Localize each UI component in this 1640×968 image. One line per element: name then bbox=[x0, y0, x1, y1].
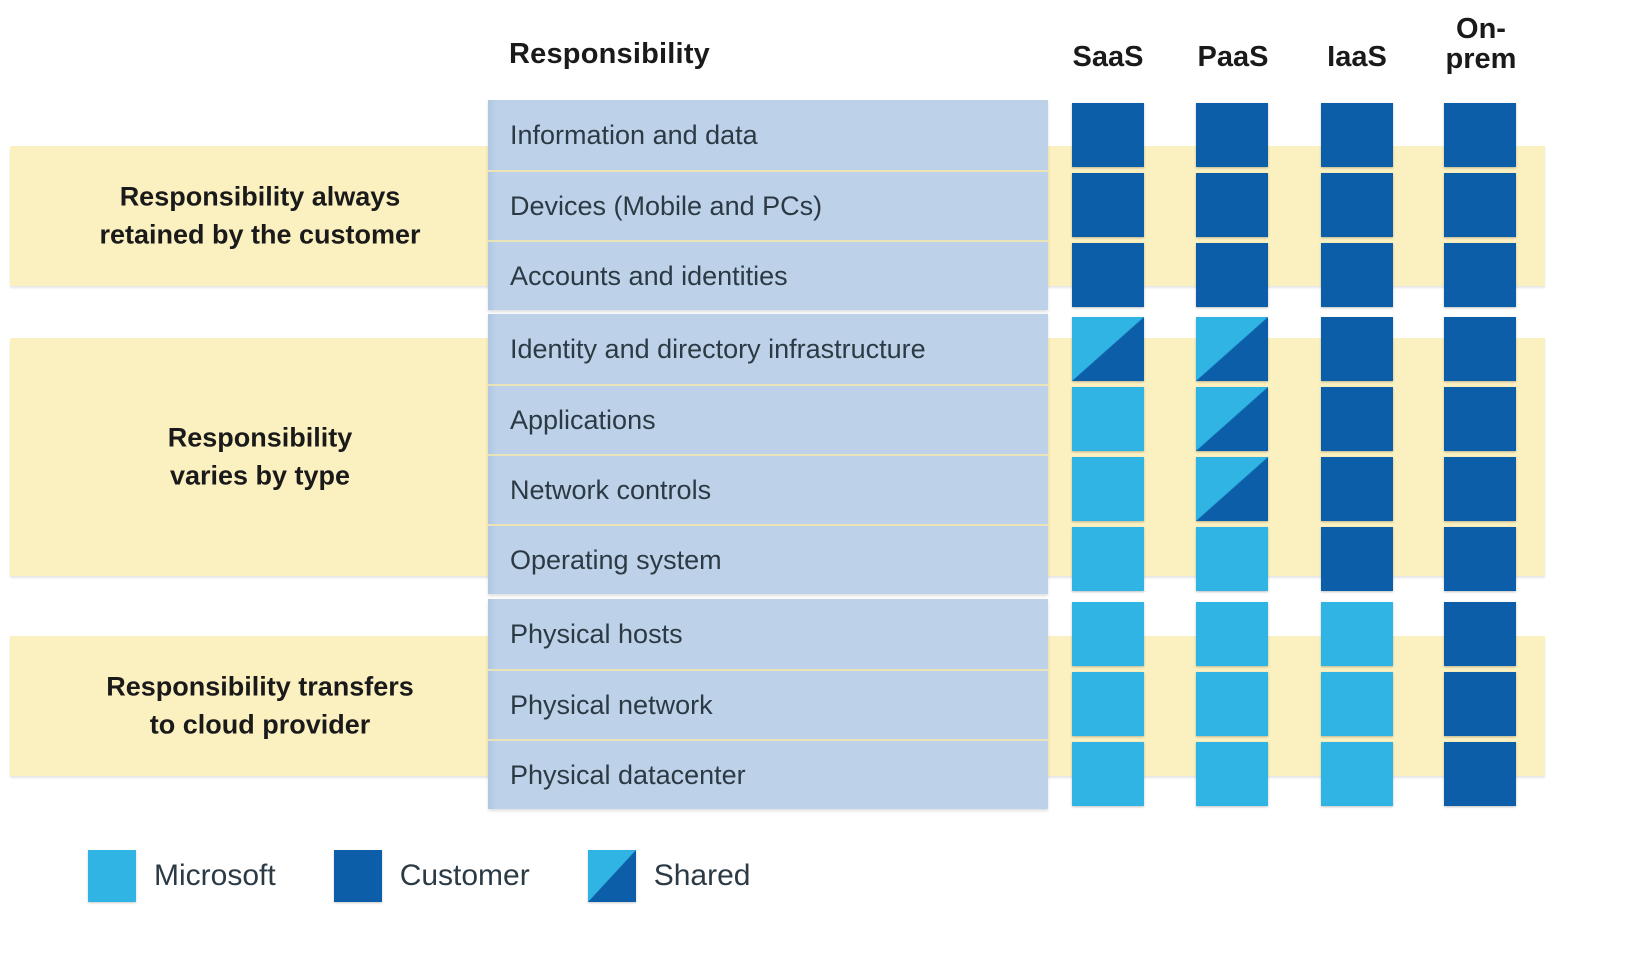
matrix-cell-iaas-customer bbox=[1321, 317, 1393, 381]
matrix-cell-saas-customer bbox=[1072, 243, 1144, 307]
responsibility-row: Physical hosts bbox=[488, 599, 1048, 669]
responsibility-row-label: Operating system bbox=[510, 545, 722, 576]
matrix-cell-onprem-customer bbox=[1444, 317, 1516, 381]
responsibility-row: Accounts and identities bbox=[488, 240, 1048, 310]
shared-responsibility-diagram: Responsibility always retained by the cu… bbox=[0, 0, 1640, 968]
responsibility-row-label: Physical network bbox=[510, 690, 713, 721]
responsibility-group-2: Physical hostsPhysical networkPhysical d… bbox=[488, 599, 1048, 809]
matrix-cell-onprem-customer bbox=[1444, 742, 1516, 806]
matrix-cell-onprem-customer bbox=[1444, 527, 1516, 591]
matrix-cell-onprem-customer bbox=[1444, 387, 1516, 451]
matrix-cell-onprem-customer bbox=[1444, 602, 1516, 666]
matrix-cell-paas-microsoft bbox=[1196, 672, 1268, 736]
matrix-cell-saas-microsoft bbox=[1072, 527, 1144, 591]
responsibility-group-1: Identity and directory infrastructureApp… bbox=[488, 314, 1048, 594]
responsibility-row: Operating system bbox=[488, 524, 1048, 594]
category-label-transfers: Responsibility transfers to cloud provid… bbox=[40, 668, 480, 745]
matrix-cell-iaas-microsoft bbox=[1321, 742, 1393, 806]
matrix-cell-saas-microsoft bbox=[1072, 602, 1144, 666]
legend-swatch-shared-icon bbox=[588, 850, 636, 902]
matrix-cell-onprem-customer bbox=[1444, 457, 1516, 521]
matrix-cell-saas-customer bbox=[1072, 103, 1144, 167]
matrix-cell-onprem-customer bbox=[1444, 243, 1516, 307]
responsibility-group-0: Information and dataDevices (Mobile and … bbox=[488, 100, 1048, 310]
matrix-cell-paas-customer bbox=[1196, 243, 1268, 307]
column-header-saas: SaaS bbox=[1043, 42, 1173, 72]
responsibility-row-label: Devices (Mobile and PCs) bbox=[510, 191, 822, 222]
matrix-cell-paas-microsoft bbox=[1196, 742, 1268, 806]
matrix-cell-saas-microsoft bbox=[1072, 457, 1144, 521]
matrix-cell-paas-microsoft bbox=[1196, 602, 1268, 666]
responsibility-row: Applications bbox=[488, 384, 1048, 454]
responsibility-row-label: Physical datacenter bbox=[510, 760, 746, 791]
category-label-retained: Responsibility always retained by the cu… bbox=[40, 178, 480, 255]
responsibility-row-label: Physical hosts bbox=[510, 619, 683, 650]
matrix-cell-iaas-customer bbox=[1321, 457, 1393, 521]
legend-item-microsoft: Microsoft bbox=[88, 850, 276, 902]
legend-item-shared: Shared bbox=[588, 850, 751, 902]
matrix-cell-onprem-customer bbox=[1444, 173, 1516, 237]
legend-label-customer: Customer bbox=[400, 859, 530, 893]
matrix-cell-saas-shared bbox=[1072, 317, 1144, 381]
responsibility-row-label: Accounts and identities bbox=[510, 261, 788, 292]
legend-label-shared: Shared bbox=[654, 859, 751, 893]
legend-swatch-microsoft-icon bbox=[88, 850, 136, 902]
responsibility-row: Information and data bbox=[488, 100, 1048, 170]
matrix-cell-paas-microsoft bbox=[1196, 527, 1268, 591]
column-header-onprem: On- prem bbox=[1416, 14, 1546, 75]
matrix-cell-saas-microsoft bbox=[1072, 742, 1144, 806]
column-header-paas: PaaS bbox=[1168, 42, 1298, 72]
matrix-cell-paas-shared bbox=[1196, 387, 1268, 451]
matrix-cell-saas-customer bbox=[1072, 173, 1144, 237]
matrix-cell-iaas-customer bbox=[1321, 387, 1393, 451]
category-label-varies: Responsibility varies by type bbox=[40, 419, 480, 496]
responsibility-row-label: Applications bbox=[510, 405, 656, 436]
matrix-cell-iaas-microsoft bbox=[1321, 602, 1393, 666]
legend-label-microsoft: Microsoft bbox=[154, 859, 276, 893]
matrix-cell-paas-shared bbox=[1196, 457, 1268, 521]
legend: MicrosoftCustomerShared bbox=[88, 850, 808, 902]
matrix-cell-iaas-customer bbox=[1321, 243, 1393, 307]
responsibility-row-label: Information and data bbox=[510, 120, 758, 151]
matrix-cell-onprem-customer bbox=[1444, 103, 1516, 167]
responsibility-row: Identity and directory infrastructure bbox=[488, 314, 1048, 384]
column-header-iaas: IaaS bbox=[1292, 42, 1422, 72]
responsibility-row: Network controls bbox=[488, 454, 1048, 524]
matrix-cell-paas-shared bbox=[1196, 317, 1268, 381]
header-responsibility: Responsibility bbox=[509, 38, 710, 71]
matrix-cell-saas-microsoft bbox=[1072, 672, 1144, 736]
matrix-cell-paas-customer bbox=[1196, 103, 1268, 167]
responsibility-row: Physical network bbox=[488, 669, 1048, 739]
matrix-cell-paas-customer bbox=[1196, 173, 1268, 237]
matrix-cell-saas-microsoft bbox=[1072, 387, 1144, 451]
responsibility-row-label: Network controls bbox=[510, 475, 711, 506]
responsibility-row: Physical datacenter bbox=[488, 739, 1048, 809]
matrix-cell-iaas-microsoft bbox=[1321, 672, 1393, 736]
matrix-cell-iaas-customer bbox=[1321, 173, 1393, 237]
matrix-cell-iaas-customer bbox=[1321, 527, 1393, 591]
matrix-cell-iaas-customer bbox=[1321, 103, 1393, 167]
responsibility-row-label: Identity and directory infrastructure bbox=[510, 334, 926, 365]
legend-swatch-customer-icon bbox=[334, 850, 382, 902]
responsibility-row: Devices (Mobile and PCs) bbox=[488, 170, 1048, 240]
matrix-cell-onprem-customer bbox=[1444, 672, 1516, 736]
legend-item-customer: Customer bbox=[334, 850, 530, 902]
